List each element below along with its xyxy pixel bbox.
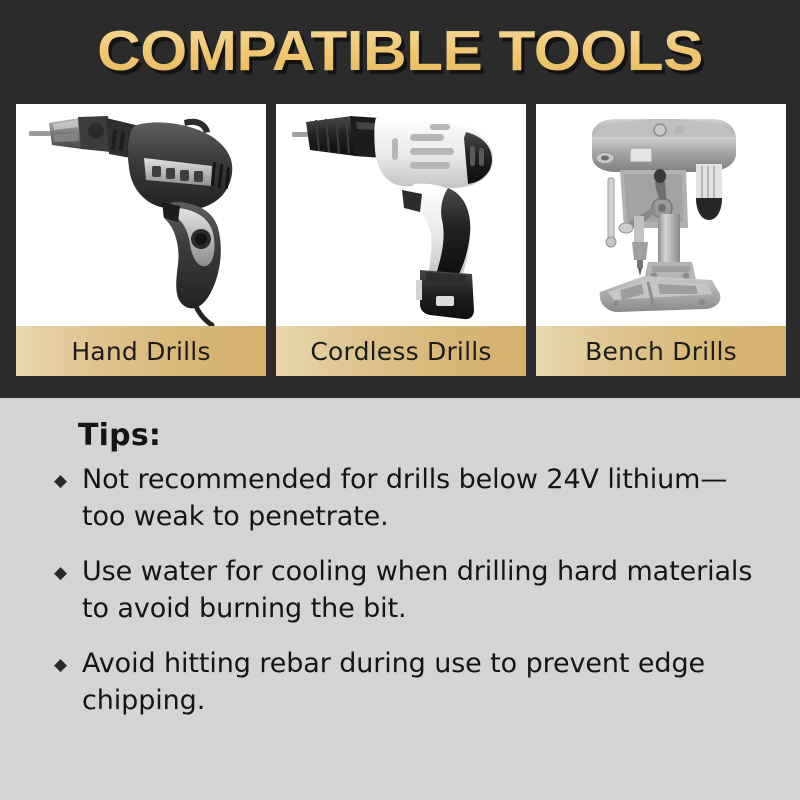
tool-card-label-hand-drills: Hand Drills (16, 326, 266, 376)
infographic-page: COMPATIBLE TOOLS (0, 0, 800, 800)
diamond-bullet-icon: ◆ (54, 555, 67, 592)
tips-list: ◆ Not recommended for drills below 24V l… (52, 461, 756, 719)
diamond-bullet-icon: ◆ (54, 647, 67, 684)
tool-card-cordless-drills[interactable]: Cordless Drills (276, 104, 526, 376)
bench-drill-press-illustration (536, 104, 786, 326)
tool-card-hand-drills[interactable]: Hand Drills (16, 104, 266, 376)
cordless-drill-image (276, 104, 526, 326)
tip-item: ◆ Use water for cooling when drilling ha… (52, 553, 756, 627)
corded-hand-drill-illustration (16, 104, 266, 326)
tool-card-label-bench-drills: Bench Drills (536, 326, 786, 376)
page-title: COMPATIBLE TOOLS (0, 18, 800, 84)
tips-heading: Tips: (78, 418, 756, 453)
bench-drill-image (536, 104, 786, 326)
tip-text: Use water for cooling when drilling hard… (82, 556, 752, 624)
tip-item: ◆ Avoid hitting rebar during use to prev… (52, 645, 756, 719)
tip-text: Avoid hitting rebar during use to preven… (82, 648, 705, 716)
diamond-bullet-icon: ◆ (54, 463, 67, 500)
compatible-tools-card-row: Hand Drills (16, 104, 786, 376)
tip-item: ◆ Not recommended for drills below 24V l… (52, 461, 756, 535)
tips-section: Tips: ◆ Not recommended for drills below… (0, 398, 800, 800)
hand-drill-image (16, 104, 266, 326)
tip-text: Not recommended for drills below 24V lit… (82, 464, 727, 532)
tool-card-label-cordless-drills: Cordless Drills (276, 326, 526, 376)
tool-card-bench-drills[interactable]: Bench Drills (536, 104, 786, 376)
cordless-drill-illustration (276, 104, 526, 326)
hero-section: COMPATIBLE TOOLS (0, 0, 800, 398)
